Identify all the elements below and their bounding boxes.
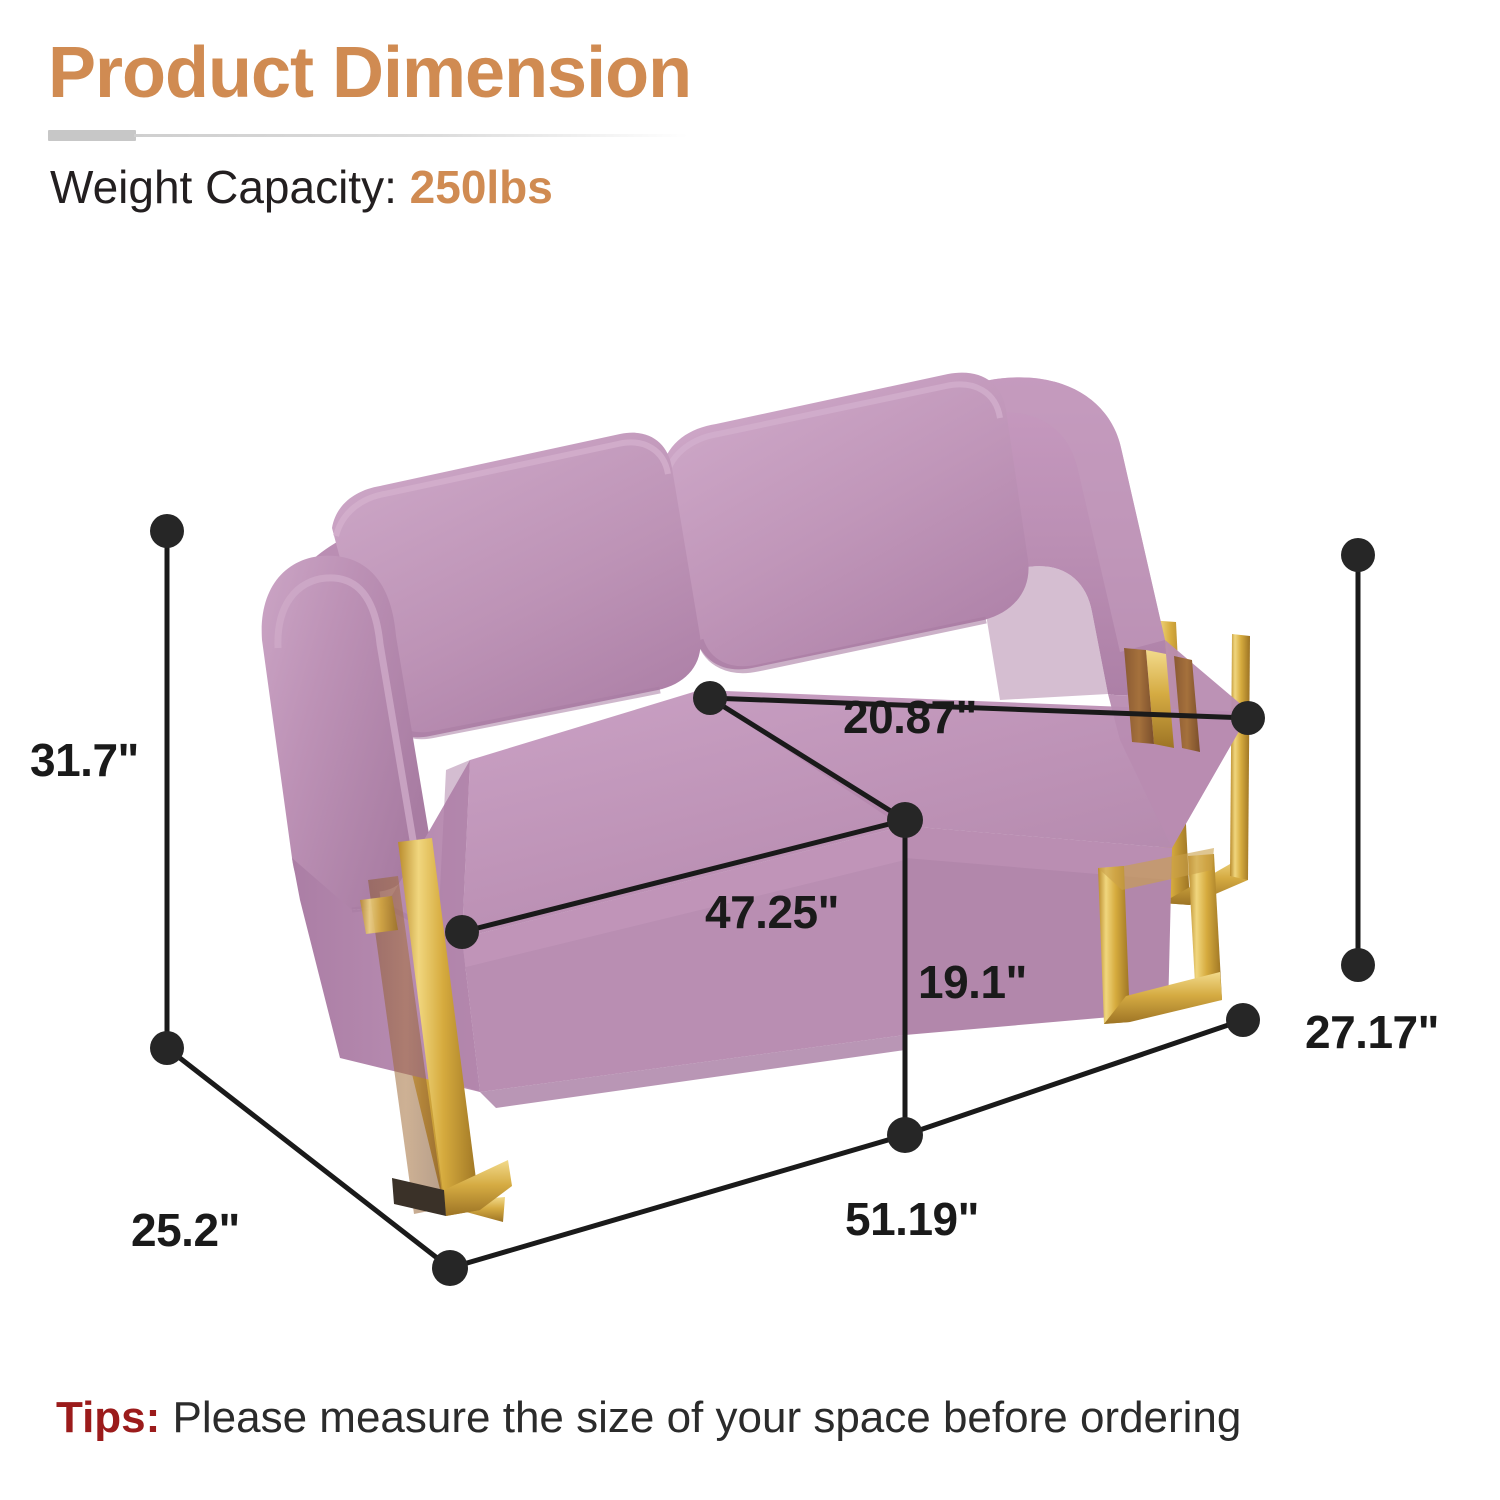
dot-back-height-bottom bbox=[1341, 948, 1375, 982]
callout-line-overall-width bbox=[905, 1020, 1243, 1135]
dot-seat-corner bbox=[887, 802, 923, 838]
product-illustration bbox=[0, 0, 1500, 1500]
product-dimension-page: Product Dimension Weight Capacity: 250lb… bbox=[0, 0, 1500, 1500]
dot-height-bottom bbox=[150, 1031, 184, 1065]
dot-floor-center bbox=[887, 1117, 923, 1153]
dot-height-top bbox=[150, 514, 184, 548]
dot-seat-depth-right bbox=[1231, 701, 1265, 735]
sofa-graphic bbox=[262, 373, 1250, 1222]
dimension-label-height: 31.7" bbox=[30, 733, 139, 787]
tips-text: Please measure the size of your space be… bbox=[173, 1393, 1242, 1442]
callout-line-overall-width-left bbox=[450, 1135, 905, 1268]
dot-floor-right bbox=[1226, 1003, 1260, 1037]
dot-back-height-top bbox=[1341, 538, 1375, 572]
dimension-label-seat-width: 47.25" bbox=[705, 885, 839, 939]
tips-label: Tips: bbox=[56, 1393, 160, 1442]
dot-seat-width-left bbox=[445, 915, 479, 949]
tips-line: Tips: Please measure the size of your sp… bbox=[56, 1393, 1241, 1443]
gold-back-support bbox=[1124, 648, 1200, 752]
dimension-label-seat-depth: 20.87" bbox=[843, 690, 977, 744]
dimension-label-overall-depth: 25.2" bbox=[131, 1203, 240, 1257]
dimension-label-seat-height: 19.1" bbox=[918, 955, 1027, 1009]
dimension-label-back-height: 27.17" bbox=[1305, 1005, 1439, 1059]
dot-floor-left bbox=[432, 1250, 468, 1286]
dot-seat-depth-left bbox=[693, 681, 727, 715]
dimension-label-overall-width: 51.19" bbox=[845, 1192, 979, 1246]
